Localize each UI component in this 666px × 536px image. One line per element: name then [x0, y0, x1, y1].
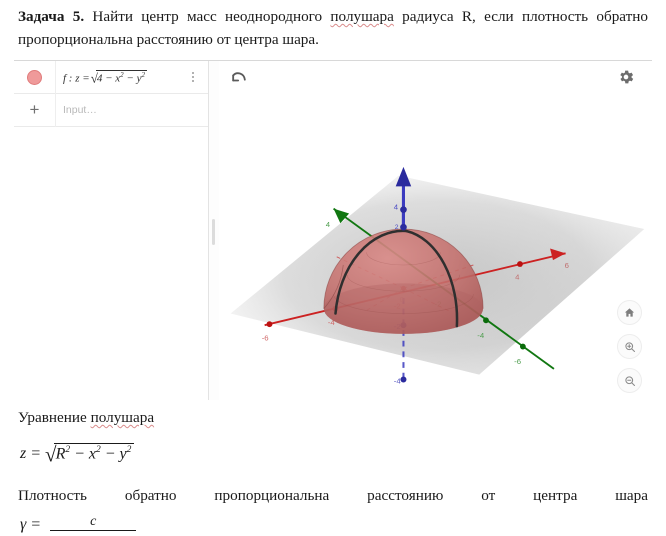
object-visibility-toggle[interactable] — [14, 61, 56, 94]
kebab-dot — [192, 72, 194, 74]
x-tick-label: 6 — [565, 261, 569, 270]
object-color-dot — [27, 70, 42, 85]
problem-text-before: Найти центр масс неоднородного — [92, 8, 330, 25]
z-tick-label: 4 — [394, 203, 399, 212]
radicand: 4 − x2 − y2 — [96, 70, 147, 85]
z-tick-label: 2 — [395, 224, 399, 231]
heading-text: Уравнение — [18, 409, 91, 426]
fraction-numerator: c — [50, 515, 136, 531]
function-name: f : — [63, 72, 72, 84]
add-input-button[interactable]: + — [14, 94, 56, 127]
gamma-formula: γ = c — [20, 516, 136, 534]
square-root-group: √R2 − x2 − y2 — [45, 443, 134, 465]
y-tick-label: -4 — [477, 331, 485, 340]
panel-splitter[interactable] — [209, 61, 219, 400]
density-statement: Плотность обратно пропорциональна рассто… — [18, 487, 648, 505]
row-more-menu-icon[interactable] — [182, 61, 204, 94]
fraction: c — [50, 515, 136, 531]
x-tick-label: -6 — [262, 334, 269, 343]
equation-lhs: z = — [75, 72, 89, 84]
radicand-term-x: 4 − x — [97, 72, 120, 84]
heading-spellchecked-word: полушара — [91, 409, 154, 426]
radicand: R2 − x2 − y2 — [54, 443, 135, 463]
radicand-term-r: R — [56, 445, 66, 462]
hemisphere-equation: z = √R2 − x2 − y2 — [20, 443, 134, 465]
problem-label: Задача 5. — [18, 8, 84, 25]
geogebra-applet[interactable]: f : z =√4 − x2 − y2 + Input… — [14, 60, 652, 400]
exponent-y: 2 — [141, 71, 145, 79]
radicand-term-x: − x — [70, 445, 96, 462]
algebra-pane[interactable]: f : z =√4 − x2 − y2 + Input… — [14, 61, 209, 400]
section-heading-hemisphere-equation: Уравнение полушара — [18, 409, 154, 427]
zoom-in-button[interactable] — [617, 334, 642, 359]
algebra-input-field[interactable]: Input… — [56, 104, 208, 116]
radicand-term-y: − y — [124, 72, 142, 84]
scene-3d[interactable]: -2 -4 -6 -4 -2 4 6 — [219, 61, 652, 400]
graphics-3d-view[interactable]: -2 -4 -6 -4 -2 4 6 — [219, 61, 652, 400]
gamma-lhs: γ = — [20, 516, 41, 533]
zoom-out-button[interactable] — [617, 368, 642, 393]
home-button[interactable] — [617, 300, 642, 325]
view-controls — [617, 300, 642, 393]
kebab-dot — [192, 80, 194, 82]
algebra-expression[interactable]: f : z =√4 − x2 − y2 — [56, 70, 182, 85]
equation-lhs: z = — [20, 445, 41, 462]
problem-statement: Задача 5. Найти центр масс неоднородного… — [18, 6, 648, 51]
y-tick-label: -6 — [514, 357, 521, 366]
z-tick-label: -4 — [394, 376, 402, 385]
kebab-dot — [192, 76, 194, 78]
square-root-group: √4 − x2 − y2 — [90, 70, 147, 85]
x-tick-label: 4 — [515, 273, 520, 282]
algebra-input-row[interactable]: + Input… — [14, 94, 208, 127]
exponent-y: 2 — [127, 445, 132, 455]
radicand-term-y: − y — [101, 445, 127, 462]
y-tick-label: 4 — [326, 220, 331, 229]
splitter-drag-handle[interactable] — [212, 219, 215, 245]
algebra-row-f[interactable]: f : z =√4 − x2 − y2 — [14, 61, 208, 94]
problem-spellchecked-word: полушара — [330, 8, 393, 25]
